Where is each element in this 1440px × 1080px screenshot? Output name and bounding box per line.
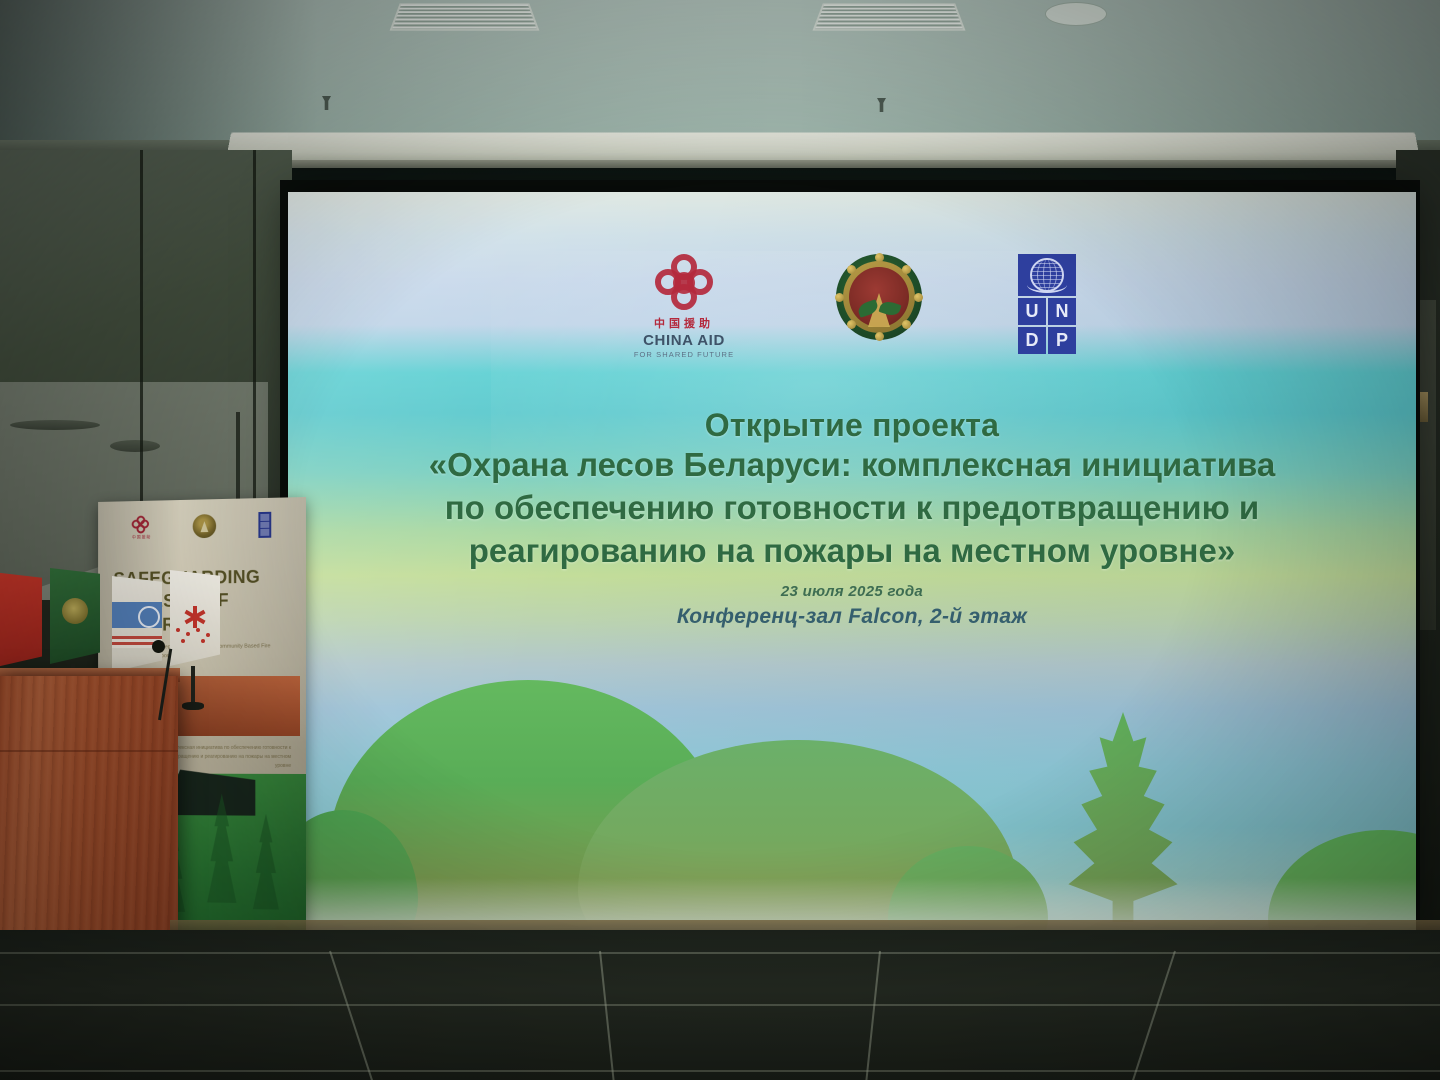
undp-letter-d: D xyxy=(1018,327,1046,354)
china-aid-chinese-text: 中国援助 xyxy=(654,315,714,331)
podium-seam xyxy=(0,750,178,752)
un-globe-icon xyxy=(1030,258,1064,292)
slide-logo-row: 中国援助 CHINA AID FOR SHARED FUTURE xyxy=(288,254,1416,359)
undp-letter-n: N xyxy=(1048,298,1076,325)
forest-silhouette xyxy=(288,600,1416,930)
slide-title-line-1: Открытие проекта xyxy=(356,407,1349,444)
slide-venue: Конференц-зал Falcon, 2-й этаж xyxy=(356,605,1349,629)
chinese-knot-icon xyxy=(654,254,714,312)
china-aid-logo: 中国援助 CHINA AID FOR SHARED FUTURE xyxy=(628,254,740,359)
ceiling-vent-right xyxy=(812,3,965,30)
slide-text-block: Открытие проекта «Охрана лесов Беларуси:… xyxy=(356,407,1349,629)
china-aid-name: CHINA AID xyxy=(643,332,725,349)
carpet-seam xyxy=(861,951,881,1080)
undp-logo: U N D P xyxy=(1018,254,1076,354)
un-undp-flag xyxy=(112,576,162,672)
belarus-forestry-flag xyxy=(50,568,100,664)
china-aid-tagline: FOR SHARED FUTURE xyxy=(634,350,734,359)
conference-room-photo: 中国援助 CHINA AID FOR SHARED FUTURE xyxy=(0,0,1440,1080)
belarus-forestry-emblem xyxy=(836,254,922,340)
carpet-seam xyxy=(329,951,385,1080)
undp-letter-u: U xyxy=(1018,298,1046,325)
slide-title-line-4: реагированию на пожары на местном уровне… xyxy=(356,530,1349,573)
china-flag xyxy=(0,572,42,668)
pendant-disc-2 xyxy=(10,420,100,430)
carpet-seam xyxy=(1120,951,1176,1080)
belarus-ornament-dots xyxy=(176,628,214,644)
belarus-ornament-icon xyxy=(184,606,206,628)
ceiling-speaker xyxy=(1045,2,1107,26)
carpet-seam xyxy=(599,951,619,1080)
pendant-disc-1 xyxy=(110,440,160,452)
slide-title-line-3: по обеспечению готовности к предотвращен… xyxy=(356,487,1349,530)
slide-date: 23 июля 2025 года xyxy=(356,583,1349,600)
un-emblem-box xyxy=(1018,254,1076,296)
slide-title-line-2: «Охрана лесов Беларуси: комплексная иниц… xyxy=(356,444,1349,487)
podium-microphone-head xyxy=(152,640,165,653)
carpet-tiles xyxy=(0,930,1440,1080)
undp-letter-p: P xyxy=(1048,327,1076,354)
projector-screen: 中国援助 CHINA AID FOR SHARED FUTURE xyxy=(288,192,1416,930)
ceiling-shading xyxy=(0,0,1440,150)
ceiling-vent-left xyxy=(390,3,540,30)
belarus-flag xyxy=(170,570,220,666)
